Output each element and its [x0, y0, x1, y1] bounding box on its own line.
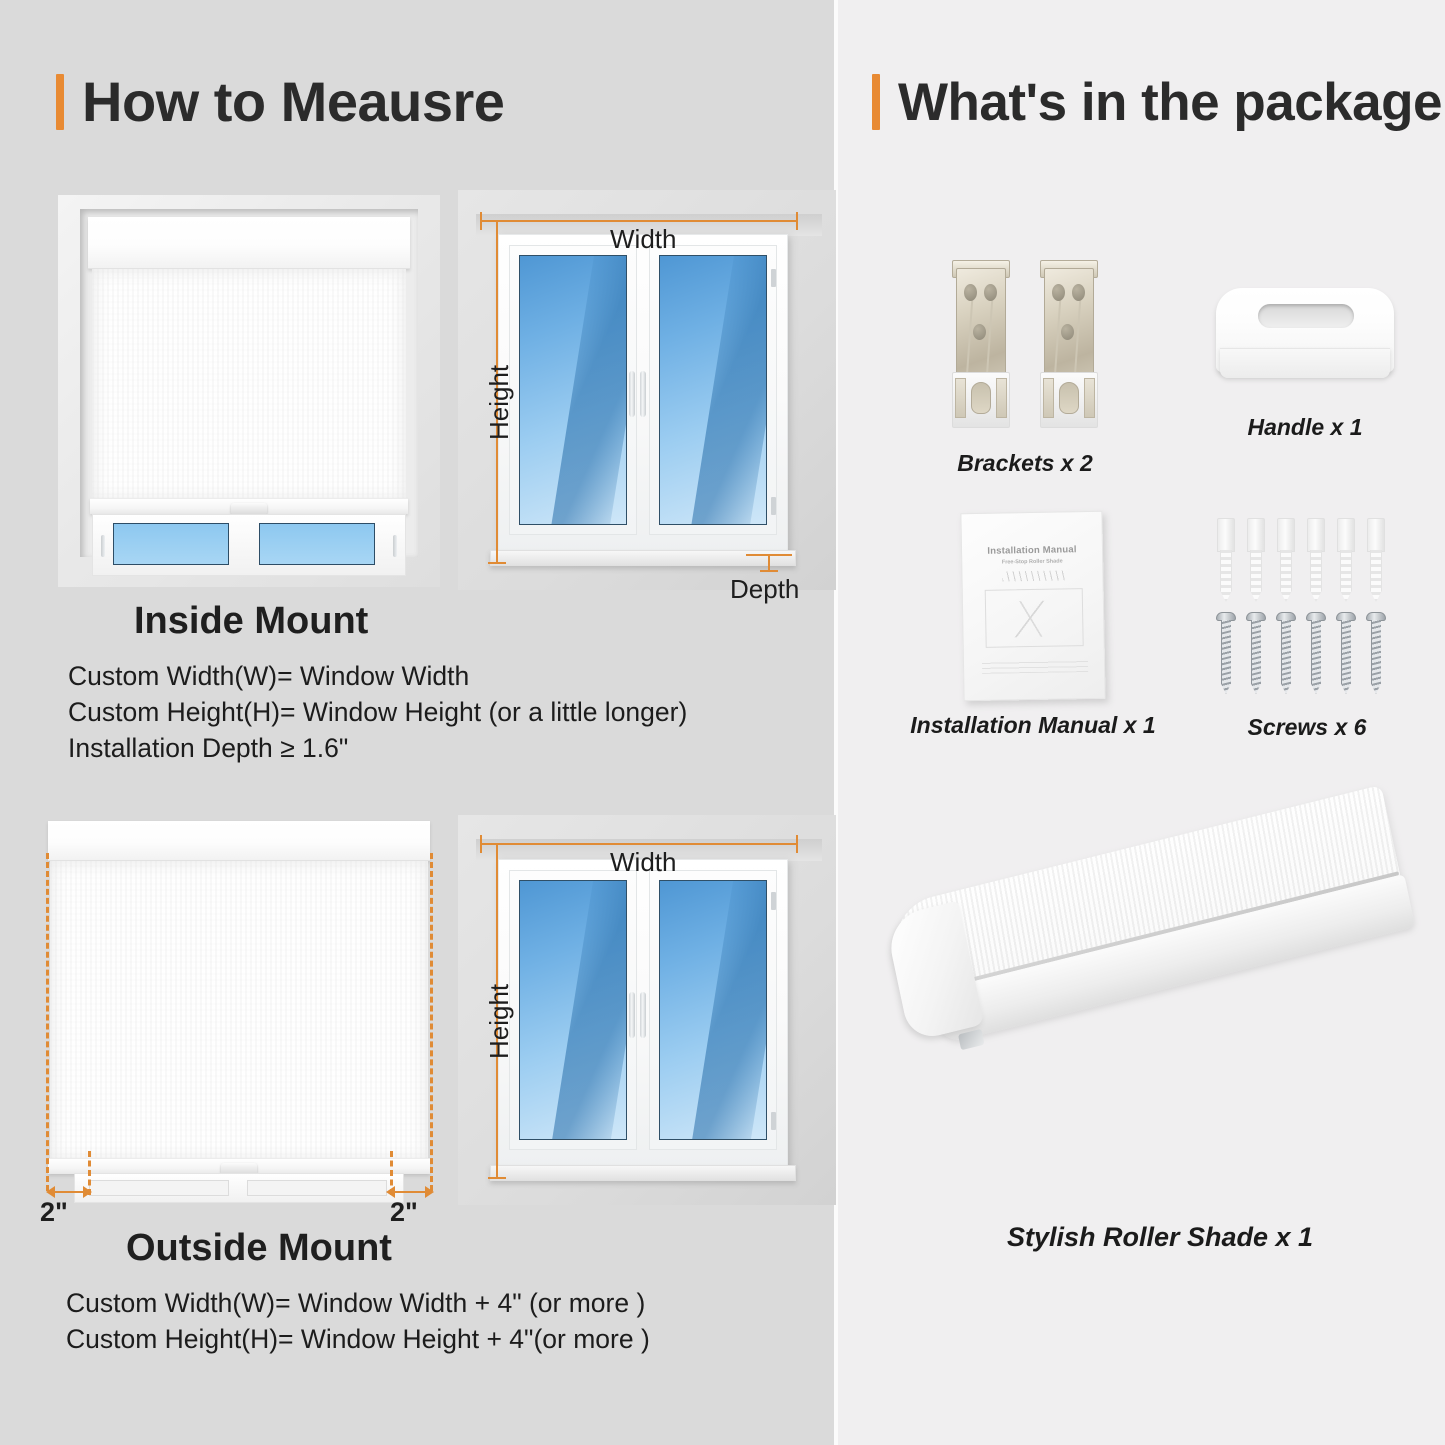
- glass-left-outside: [519, 880, 627, 1140]
- glass-pane-left: [113, 523, 229, 565]
- sash-right-outside: [649, 870, 777, 1150]
- package-title: What's in the package: [898, 76, 1442, 129]
- handle-caption: Handle x 1: [1175, 414, 1435, 441]
- shade-fabric: [92, 269, 406, 501]
- screw-icon: [1306, 612, 1326, 694]
- accent-bar-right: [872, 74, 880, 130]
- sash-left-outside: [509, 870, 637, 1150]
- width-label-outside: Width: [610, 847, 676, 878]
- bracket-icon: [950, 258, 1012, 436]
- screw-icon: [1366, 612, 1386, 694]
- width-measure-line-outside: [480, 843, 798, 845]
- overhang-label-left: 2": [40, 1197, 68, 1228]
- sash-right: [649, 245, 777, 535]
- overhang-dash-left: [46, 853, 49, 1191]
- height-cap-bottom-outside: [488, 1177, 506, 1179]
- package-item-roller-shade: Stylish Roller Shade x 1: [880, 870, 1440, 1253]
- screw-icon: [1336, 612, 1356, 694]
- how-to-measure-heading: How to Meausre: [56, 74, 504, 130]
- window-frame-outside: [498, 859, 788, 1169]
- roller-shade-caption: Stylish Roller Shade x 1: [880, 1222, 1440, 1253]
- width-cap-right-outside: [796, 835, 798, 853]
- package-heading: What's in the package: [872, 74, 1442, 130]
- wall-anchor-icon: [1275, 518, 1297, 602]
- bracket-icon-group: [870, 258, 1180, 436]
- screw-icon: [1216, 612, 1236, 694]
- package-item-brackets: Brackets x 2: [870, 258, 1180, 477]
- depth-measure-cap: [760, 570, 778, 572]
- sash-hinge-right: [393, 535, 397, 557]
- window-handles-outside: [629, 992, 646, 1038]
- window-below-shade: [92, 514, 406, 576]
- outside-mount-note-1: Custom Width(W)= Window Width + 4" (or m…: [66, 1285, 650, 1321]
- headrail-outside: [48, 821, 430, 861]
- hinge-top-right-outside: [771, 892, 776, 910]
- width-measure-cap-left: [480, 212, 482, 230]
- glass-right-outside: [659, 880, 767, 1140]
- manual-cover-subtitle: Free-Stop Roller Shade: [962, 558, 1102, 566]
- inside-mount-note-1: Custom Width(W)= Window Width: [68, 658, 687, 694]
- manual-icon: Installation Manual Free-Stop Roller Sha…: [960, 511, 1105, 701]
- width-cap-left-outside: [480, 835, 482, 853]
- inside-mount-section: Width Height Depth Inside Mount Custom W…: [0, 190, 834, 590]
- overhang-label-right: 2": [390, 1197, 418, 1228]
- window-frame: [498, 234, 788, 554]
- sash-left: [509, 245, 637, 535]
- how-to-measure-title: How to Meausre: [82, 74, 504, 130]
- inside-mount-note-3: Installation Depth ≥ 1.6": [68, 730, 687, 766]
- inside-mount-notes: Custom Width(W)= Window Width Custom Hei…: [68, 658, 687, 766]
- window-handles: [629, 371, 646, 417]
- accent-bar-left: [56, 74, 64, 130]
- package-item-manual: Installation Manual Free-Stop Roller Sha…: [868, 512, 1198, 739]
- screw-icon: [1276, 612, 1296, 694]
- width-measure-line: [480, 220, 798, 222]
- hinge-bottom-right-outside: [771, 1112, 776, 1130]
- hinge-bottom-right: [771, 497, 776, 515]
- width-measure-cap-right: [796, 212, 798, 230]
- manual-caption: Installation Manual x 1: [868, 712, 1198, 739]
- outside-mount-section: 2" 2" Width: [0, 805, 834, 1205]
- wall-anchor-icon: [1335, 518, 1357, 602]
- headrail: [88, 217, 410, 269]
- depth-label: Depth: [730, 574, 799, 605]
- window-pane-right-outside: [247, 1180, 387, 1196]
- screw-icon-group: [1213, 512, 1401, 702]
- shade-fabric-outside: [50, 861, 428, 1161]
- window-sill: [490, 550, 796, 566]
- inside-mount-diagrams: Width Height Depth: [0, 190, 834, 590]
- outside-mount-notes: Custom Width(W)= Window Width + 4" (or m…: [66, 1285, 650, 1357]
- inside-mount-note-2: Custom Height(H)= Window Height (or a li…: [68, 694, 687, 730]
- bottom-rail: [90, 498, 408, 514]
- window-behind-shade: [74, 1173, 404, 1203]
- height-label: Height: [484, 365, 515, 440]
- outside-mount-measure-diagram: Width Height: [458, 815, 836, 1205]
- handle-icon: [1216, 288, 1394, 400]
- wall-anchor-icon: [1365, 518, 1387, 602]
- wall-anchor-icon: [1215, 518, 1237, 602]
- outside-mount-note-2: Custom Height(H)= Window Height + 4"(or …: [66, 1321, 650, 1357]
- screw-icon: [1246, 612, 1266, 694]
- wall-anchor-icon: [1305, 518, 1327, 602]
- bottom-rail-outside: [48, 1158, 430, 1174]
- glass-right: [659, 255, 767, 525]
- outside-mount-diagrams: 2" 2" Width: [0, 805, 834, 1205]
- width-label: Width: [610, 224, 676, 255]
- window-pane-left-outside: [89, 1180, 229, 1196]
- roller-shade-icon: [890, 870, 1430, 1200]
- package-item-screws: Screws x 6: [1182, 512, 1432, 741]
- overhang-dash-right: [430, 853, 433, 1191]
- outside-mount-title: Outside Mount: [126, 1227, 392, 1270]
- glass-pane-right: [259, 523, 375, 565]
- inside-mount-shade-illustration: [58, 195, 440, 587]
- height-label-outside: Height: [484, 984, 515, 1059]
- window-sill-outside: [490, 1165, 796, 1181]
- bracket-icon: [1038, 258, 1100, 436]
- sash-hinge-left: [101, 535, 105, 557]
- height-measure-cap-bottom: [488, 562, 506, 564]
- glass-left: [519, 255, 627, 525]
- inside-mount-measure-diagram: Width Height Depth: [458, 190, 836, 590]
- height-measure-cap-top: [488, 220, 506, 222]
- manual-cover-title: Installation Manual: [962, 544, 1102, 557]
- outside-mount-shade-illustration: 2" 2": [34, 813, 444, 1201]
- package-item-handle: Handle x 1: [1175, 288, 1435, 441]
- brackets-caption: Brackets x 2: [870, 450, 1180, 477]
- wall-anchor-icon: [1245, 518, 1267, 602]
- screws-caption: Screws x 6: [1182, 714, 1432, 741]
- height-cap-top-outside: [488, 843, 506, 845]
- hinge-top-right: [771, 269, 776, 287]
- inside-mount-title: Inside Mount: [134, 600, 368, 643]
